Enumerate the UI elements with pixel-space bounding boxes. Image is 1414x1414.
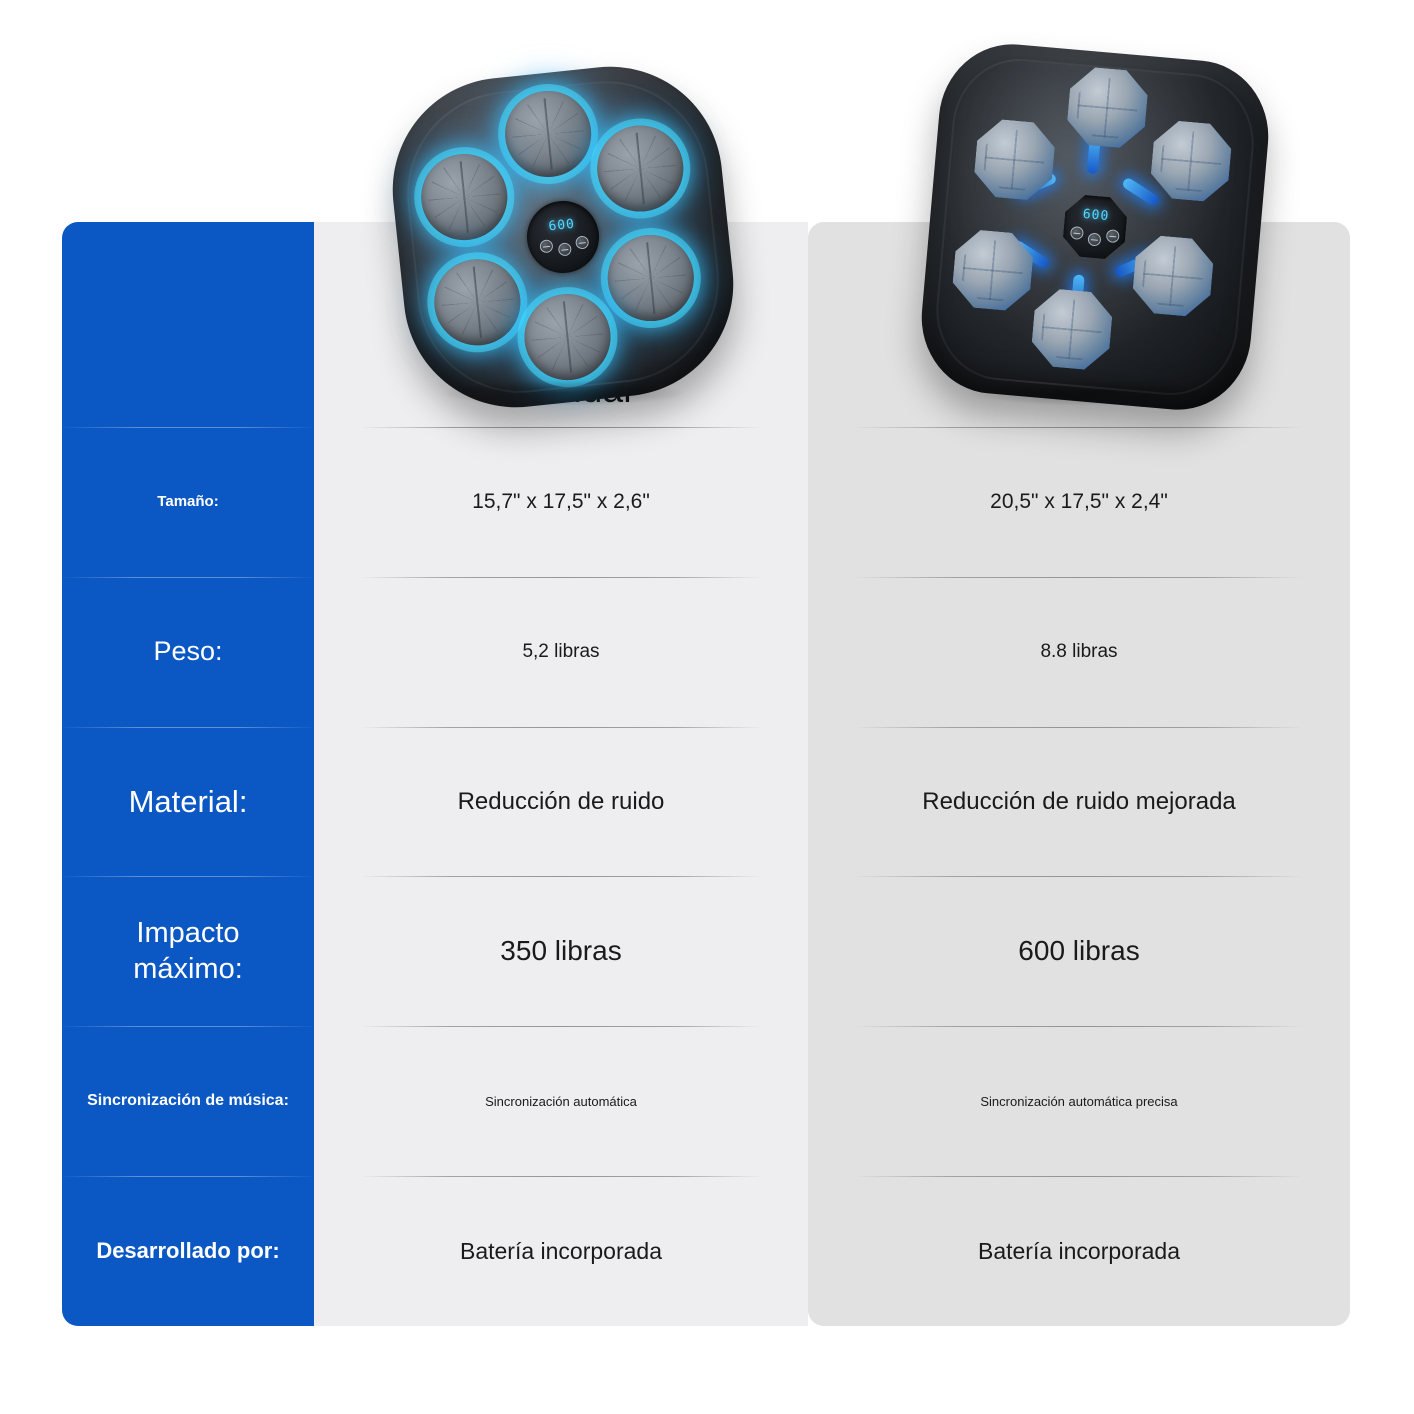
value-text: 5,2 libras xyxy=(522,641,599,663)
display-value: 600 xyxy=(548,217,576,235)
display-buttons[interactable] xyxy=(539,235,590,258)
spec-label-max-impact-line1: Impacto xyxy=(136,917,239,949)
value-text: 600 libras xyxy=(1018,935,1139,967)
power-button-icon[interactable] xyxy=(557,242,571,256)
spec-row-developed-by: Desarrollado por: xyxy=(62,1176,314,1326)
product-image-standard: 600 xyxy=(398,72,728,402)
value-text: 15,7" x 17,5" x 2,6" xyxy=(472,490,650,514)
machine-body-premium: 600 xyxy=(915,38,1274,415)
display-buttons[interactable] xyxy=(1069,226,1119,248)
spec-label-max-impact: Impacto máximo: xyxy=(133,915,243,988)
spec-row-max-impact: Impacto máximo: xyxy=(62,876,314,1026)
standard-value-max-impact: 350 libras xyxy=(314,876,808,1026)
value-text: Sincronización automática xyxy=(485,1094,637,1109)
premium-value-weight: 8.8 libras xyxy=(808,577,1350,727)
spec-row-music-sync: Sincronización de música: xyxy=(62,1026,314,1176)
spec-row-material: Material: xyxy=(62,727,314,877)
power-button-icon[interactable] xyxy=(1087,232,1101,246)
value-text: Reducción de ruido mejorada xyxy=(922,788,1236,816)
premium-value-material: Reducción de ruido mejorada xyxy=(808,727,1350,877)
spec-label-music-sync: Sincronización de música: xyxy=(87,1092,289,1110)
standard-value-weight: 5,2 libras xyxy=(314,577,808,727)
spec-label-material: Material: xyxy=(129,784,248,820)
standard-value-developed-by: Batería incorporada xyxy=(314,1176,808,1326)
plus-button-icon[interactable] xyxy=(575,235,589,249)
value-text: 350 libras xyxy=(500,935,621,967)
value-text: 8.8 libras xyxy=(1040,641,1117,663)
standard-value-music-sync: Sincronización automática xyxy=(314,1026,808,1176)
product-image-premium: 600 xyxy=(930,52,1260,402)
minus-button-icon[interactable] xyxy=(539,239,553,253)
value-text: 20,5" x 17,5" x 2,4" xyxy=(990,490,1168,514)
spec-label-column: Tamaño: Peso: Material: Impacto máximo: … xyxy=(62,222,314,1326)
display-value: 600 xyxy=(1082,207,1110,224)
minus-button-icon[interactable] xyxy=(1069,226,1083,240)
product-shadow xyxy=(970,380,1221,406)
premium-value-size: 20,5" x 17,5" x 2,4" xyxy=(808,427,1350,577)
value-text: Sincronización automática precisa xyxy=(980,1094,1177,1109)
spec-label-developed-by: Desarrollado por: xyxy=(96,1238,279,1264)
spec-column-header-spacer xyxy=(62,222,314,427)
spec-label-max-impact-line2: máximo: xyxy=(133,953,243,985)
premium-value-music-sync: Sincronización automática precisa xyxy=(808,1026,1350,1176)
premium-value-max-impact: 600 libras xyxy=(808,876,1350,1026)
spec-row-size: Tamaño: xyxy=(62,427,314,577)
plus-button-icon[interactable] xyxy=(1105,229,1119,243)
standard-value-material: Reducción de ruido xyxy=(314,727,808,877)
product-shadow xyxy=(438,380,689,406)
spec-label-weight: Peso: xyxy=(153,636,222,667)
value-text: Batería incorporada xyxy=(460,1238,662,1265)
machine-body-standard: 600 xyxy=(382,56,745,419)
spec-label-size: Tamaño: xyxy=(157,493,218,510)
premium-value-developed-by: Batería incorporada xyxy=(808,1176,1350,1326)
standard-value-size: 15,7" x 17,5" x 2,6" xyxy=(314,427,808,577)
spec-row-weight: Peso: xyxy=(62,577,314,727)
value-text: Reducción de ruido xyxy=(458,788,665,816)
value-text: Batería incorporada xyxy=(978,1238,1180,1265)
